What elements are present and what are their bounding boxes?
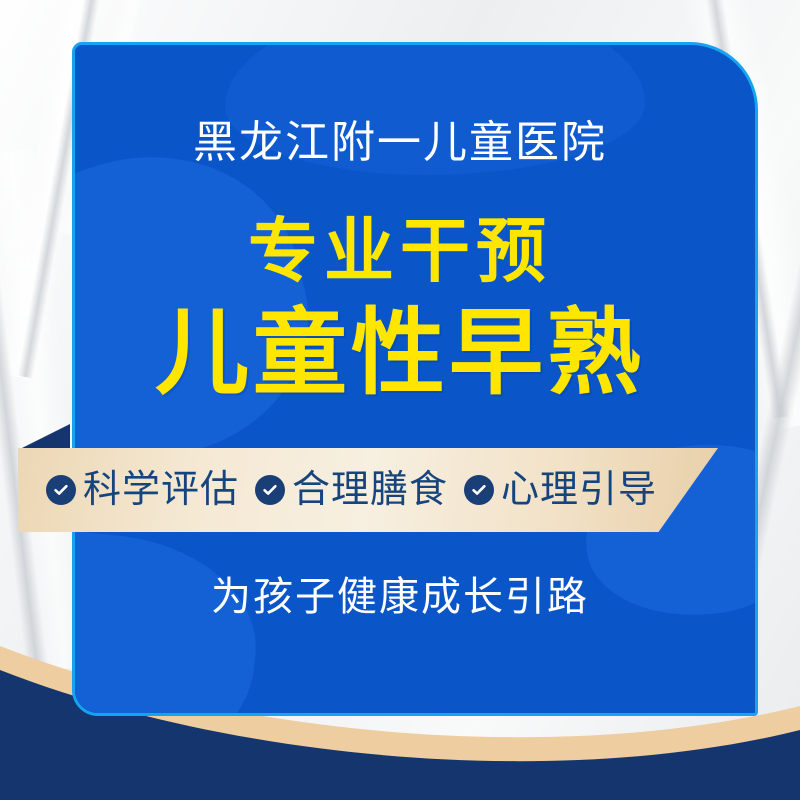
headline-secondary: 专业干预 (0, 212, 800, 290)
feature-label: 合理膳食 (292, 471, 448, 509)
feature-label: 科学评估 (83, 471, 239, 509)
feature-item: 心理引导 (464, 471, 657, 509)
check-circle-icon (46, 475, 76, 505)
check-circle-icon (464, 475, 494, 505)
feature-banner: 科学评估 合理膳食 心理引导 (18, 448, 718, 532)
feature-item: 科学评估 (46, 471, 239, 509)
feature-label: 心理引导 (501, 471, 657, 509)
check-circle-icon (255, 475, 285, 505)
headline-primary: 儿童性早熟 (0, 300, 800, 405)
hospital-name: 黑龙江附一儿童医院 (0, 118, 800, 169)
tagline: 为孩子健康成长引路 (0, 573, 800, 621)
feature-item: 合理膳食 (255, 471, 448, 509)
ribbon-tail-decoration (18, 424, 70, 450)
poster-canvas: 黑龙江附一儿童医院 专业干预 儿童性早熟 科学评估 合理膳食 (0, 0, 800, 800)
feature-list: 科学评估 合理膳食 心理引导 (18, 471, 657, 509)
